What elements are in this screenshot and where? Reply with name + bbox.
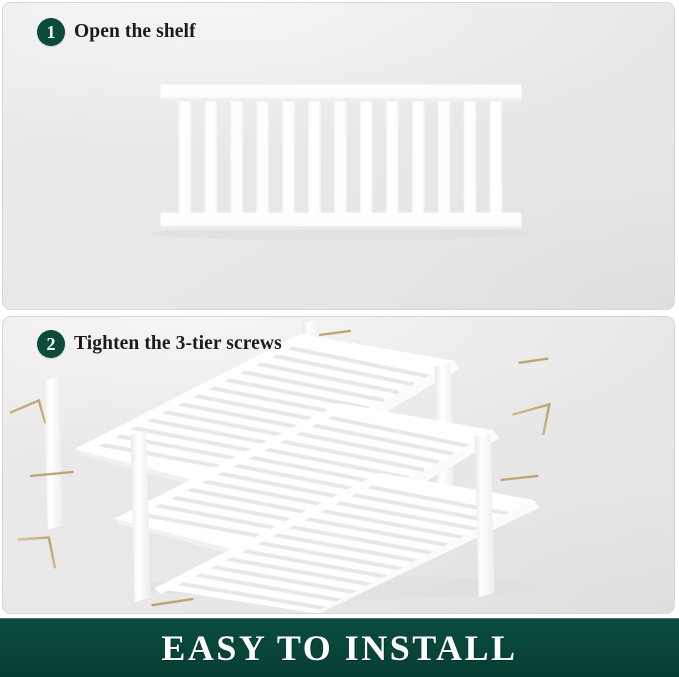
allen-screw-icon bbox=[11, 400, 45, 422]
step-1-title: Open the shelf bbox=[74, 21, 196, 43]
rack-post-front-right-lower bbox=[475, 432, 495, 597]
allen-screw-icon bbox=[513, 404, 549, 434]
shelf-slats bbox=[178, 88, 502, 225]
allen-screw-icon bbox=[19, 538, 55, 568]
step-1-badge: 1 bbox=[37, 18, 65, 46]
step-2-illustration bbox=[3, 317, 674, 613]
step-2-heading: 2 Tighten the 3-tier screws bbox=[37, 330, 282, 358]
rack-post-back-left bbox=[43, 377, 63, 530]
three-tier-rack-drawing bbox=[3, 317, 674, 613]
flat-shelf-drawing bbox=[3, 3, 674, 309]
step-2-title: Tighten the 3-tier screws bbox=[74, 333, 282, 355]
step-panel-2: 2 Tighten the 3-tier screws bbox=[2, 316, 675, 614]
banner-divider bbox=[0, 618, 679, 619]
easy-to-install-banner: EASY TO INSTALL bbox=[0, 618, 679, 677]
allen-screw-icon bbox=[519, 359, 547, 363]
instruction-graphic: 1 Open the shelf bbox=[0, 0, 679, 677]
step-1-illustration bbox=[3, 3, 674, 309]
banner-text: EASY TO INSTALL bbox=[161, 627, 517, 669]
step-2-badge: 2 bbox=[37, 330, 65, 358]
allen-screw-icon bbox=[153, 599, 193, 605]
allen-screw-icon bbox=[320, 331, 350, 335]
step-panel-1: 1 Open the shelf bbox=[2, 2, 675, 310]
step-1-heading: 1 Open the shelf bbox=[37, 18, 196, 46]
allen-screw-icon bbox=[502, 476, 538, 480]
